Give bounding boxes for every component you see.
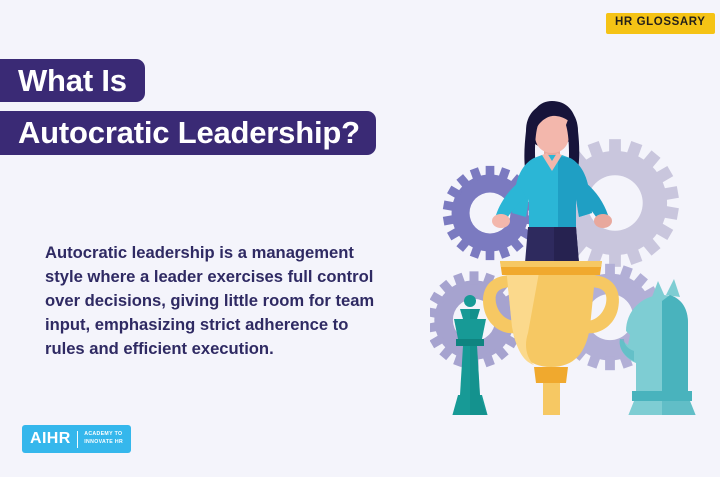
logo-divider bbox=[77, 431, 79, 448]
slide-canvas: HR GLOSSARY What Is Autocratic Leadershi… bbox=[0, 0, 720, 477]
page-title-line-2-text: Autocratic Leadership? bbox=[18, 115, 360, 151]
queen-finial bbox=[464, 295, 476, 307]
trophy-stem bbox=[543, 383, 560, 415]
hand-left bbox=[492, 214, 510, 228]
hand-right bbox=[594, 214, 612, 228]
definition-paragraph: Autocratic leadership is a management st… bbox=[45, 241, 390, 361]
page-title-line-1: What Is bbox=[0, 59, 145, 102]
illustration-svg bbox=[430, 95, 720, 415]
aihr-logo-wordmark: AIHR bbox=[30, 431, 71, 447]
queen-collar bbox=[456, 339, 484, 346]
queen-head bbox=[454, 319, 486, 339]
knight-mane-shade bbox=[662, 295, 688, 391]
aihr-logo[interactable]: AIHR ACADEMY TO INNOVATE HR bbox=[22, 425, 131, 453]
aihr-logo-tagline: ACADEMY TO INNOVATE HR bbox=[84, 431, 123, 447]
knight-base-shade bbox=[662, 401, 702, 415]
knight-collar bbox=[632, 391, 692, 401]
page-title-line-1-text: What Is bbox=[18, 63, 127, 99]
trophy-rim-top bbox=[500, 261, 602, 267]
hr-glossary-badge: HR GLOSSARY bbox=[606, 13, 715, 34]
leadership-illustration bbox=[430, 95, 720, 415]
page-title-line-2: Autocratic Leadership? bbox=[0, 111, 376, 155]
trophy-collar bbox=[534, 367, 568, 383]
knight-ear bbox=[666, 279, 680, 297]
